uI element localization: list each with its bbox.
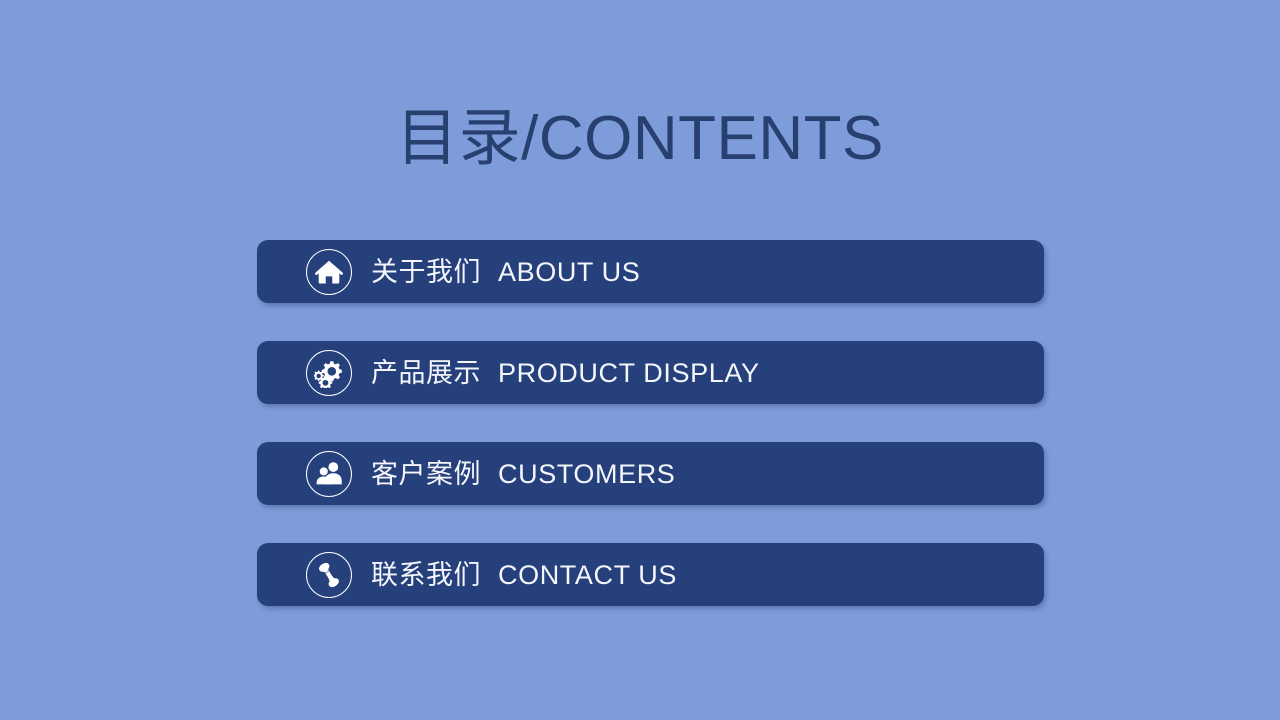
menu-item-contact-us[interactable]: 联系我们 CONTACT US (257, 543, 1044, 606)
menu-item-customers[interactable]: 客户案例 CUSTOMERS (257, 442, 1044, 505)
menu-item-label-cn: 联系我们 (371, 560, 481, 590)
phone-icon (306, 552, 352, 598)
menu-item-product-display[interactable]: 产品展示 PRODUCT DISPLAY (257, 341, 1044, 404)
menu-item-label-cn: 客户案例 (371, 459, 481, 489)
page-title: 目录/CONTENTS (0, 103, 1280, 175)
menu-item-labels: 关于我们 ABOUT US (371, 257, 640, 287)
menu-item-label-en: CUSTOMERS (498, 459, 675, 489)
menu-item-label-cn: 产品展示 (371, 358, 481, 388)
contents-menu: 关于我们 ABOUT US 产品展示 PRODUCT DISPLAY (257, 240, 1044, 606)
menu-item-about-us[interactable]: 关于我们 ABOUT US (257, 240, 1044, 303)
menu-item-labels: 产品展示 PRODUCT DISPLAY (371, 358, 760, 388)
menu-item-label-en: PRODUCT DISPLAY (498, 358, 760, 388)
menu-item-label-en: ABOUT US (498, 257, 640, 287)
people-icon (306, 451, 352, 497)
menu-item-labels: 客户案例 CUSTOMERS (371, 459, 675, 489)
menu-item-labels: 联系我们 CONTACT US (371, 560, 677, 590)
contents-slide: 目录/CONTENTS 关于我们 ABOUT US (0, 0, 1280, 720)
menu-item-label-en: CONTACT US (498, 560, 677, 590)
menu-item-label-cn: 关于我们 (371, 257, 481, 287)
home-icon (306, 249, 352, 295)
gears-icon (306, 350, 352, 396)
